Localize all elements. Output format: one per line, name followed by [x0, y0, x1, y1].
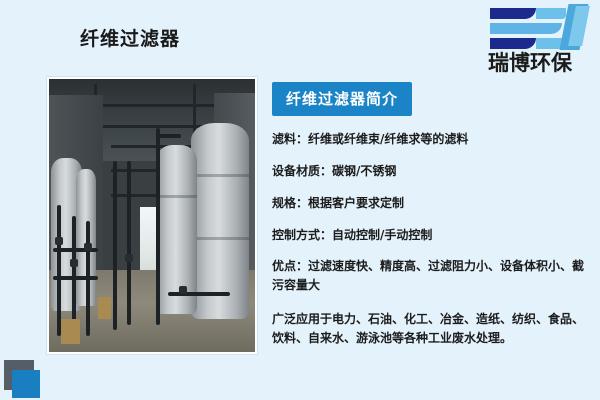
photo-tank-band	[156, 195, 197, 198]
photo-valve	[179, 286, 187, 294]
spec-item-specification: 规格：根据客户要求定制	[272, 194, 588, 212]
photo-pipe	[53, 276, 98, 280]
spec-item-advantages: 优点：过滤速度快、精度高、过滤阻力小、设备体积小、截污容量大	[272, 257, 588, 295]
spec-item-applications: 广泛应用于电力、石油、化工、冶金、造纸、纺织、食品、饮料、自来水、游泳池等各种工…	[272, 310, 588, 348]
photo-valve	[84, 243, 92, 251]
photo-valve	[55, 237, 63, 245]
slide-canvas: 瑞博环保 纤维过滤器	[0, 0, 600, 400]
photo-pipe	[156, 134, 181, 138]
photo-tank-band	[191, 237, 249, 240]
logo-brand-text: 瑞博环保	[468, 50, 592, 76]
spec-item-material: 设备材质：碳钢/不锈钢	[272, 162, 588, 180]
photo-tank-medium	[156, 145, 197, 314]
content-panel: 纤维过滤器简介 滤料：纤维或纤维束/纤维求等的滤料 设备材质：碳钢/不锈钢 规格…	[272, 82, 588, 348]
page-title: 纤维过滤器	[80, 24, 180, 51]
photo-tank-large	[191, 123, 249, 320]
logo-bar-mid	[490, 23, 562, 34]
logo-bar-dark-bottom	[490, 38, 536, 49]
company-logo: 瑞博环保	[468, 4, 592, 82]
section-heading: 纤维过滤器简介	[272, 82, 412, 116]
logo-bar-dark-top	[490, 8, 536, 19]
logo-mark-icon	[468, 4, 588, 52]
spec-list: 滤料：纤维或纤维束/纤维求等的滤料 设备材质：碳钢/不锈钢 规格：根据客户要求定…	[272, 130, 588, 348]
photo-crate	[61, 319, 80, 344]
decor-square-blue	[12, 370, 40, 398]
product-photo	[49, 79, 255, 352]
spec-item-filter-media: 滤料：纤维或纤维束/纤维求等的滤料	[272, 130, 588, 148]
product-photo-frame	[47, 77, 257, 354]
photo-valve	[125, 254, 133, 262]
photo-tank-band	[191, 174, 249, 177]
photo-pipe	[57, 205, 61, 336]
photo-pipe	[156, 128, 160, 325]
photo-pipe	[168, 292, 230, 296]
photo-valve	[70, 259, 78, 267]
photo-pipe	[127, 161, 131, 325]
photo-crate	[98, 297, 110, 319]
logo-bar-light-top	[536, 8, 566, 19]
spec-item-control-mode: 控制方式：自动控制/手动控制	[272, 226, 588, 244]
photo-pipe	[113, 161, 117, 330]
